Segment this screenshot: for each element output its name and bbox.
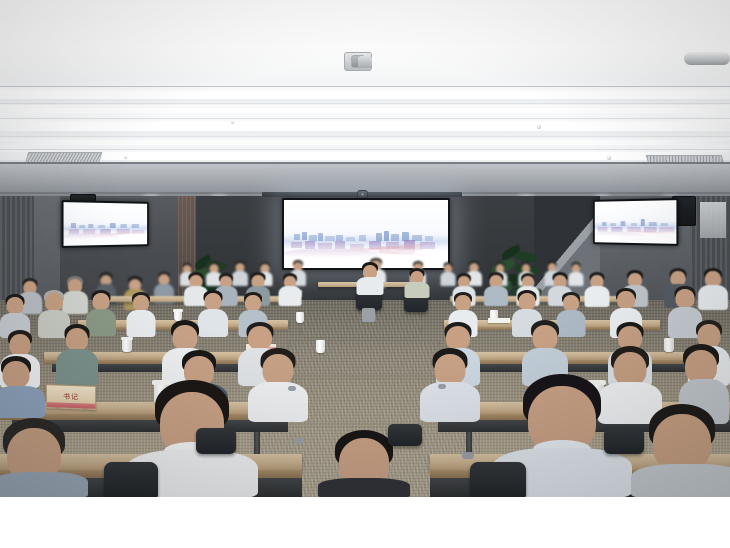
ceiling-seam (0, 118, 730, 119)
render-building (641, 219, 645, 226)
chair-frame (362, 308, 375, 322)
paper-cup (296, 312, 304, 323)
name-placard-left-text: 书记 (63, 393, 79, 401)
carpet-tile (288, 340, 440, 376)
ceiling-seam (0, 86, 730, 87)
right-led-screen-face (595, 200, 677, 244)
conference-chair[interactable] (604, 428, 644, 454)
paper-cup (122, 338, 132, 352)
chair-caster (294, 438, 304, 444)
right-led-screen[interactable] (593, 198, 679, 246)
chair-caster (462, 452, 474, 459)
render-building (294, 234, 301, 240)
ceiling-sprinkler (231, 121, 234, 124)
cityscape-render-left (64, 202, 148, 246)
wall-panel-light-right (700, 202, 726, 238)
name-placard-left: 书记 (46, 384, 96, 410)
render-foreground-fade (64, 228, 148, 246)
ceiling-light-strip (0, 122, 730, 131)
attendee (584, 272, 609, 307)
ceiling-sprinkler (537, 125, 541, 129)
render-building (602, 222, 607, 226)
render-building (71, 223, 76, 228)
attendee (0, 356, 52, 418)
conference-chair[interactable] (196, 428, 236, 454)
attendee-foreground (636, 404, 730, 497)
ceiling-shadow-band (0, 99, 730, 105)
render-building (302, 232, 307, 240)
conference-chair[interactable] (470, 462, 526, 497)
attendee-presenter-row (404, 268, 429, 298)
chair-caster (438, 384, 446, 389)
attendee-foreground (0, 418, 86, 497)
render-foreground-fade (595, 226, 677, 244)
conference-chair[interactable] (388, 424, 422, 446)
conference-chair[interactable] (104, 462, 158, 497)
paper-cup (316, 340, 325, 353)
ceiling-sprinkler (124, 156, 127, 159)
carpet-tile (300, 310, 422, 338)
handout-paper (488, 318, 510, 323)
render-building (376, 233, 383, 241)
render-building (318, 233, 323, 240)
conference-room-photo: 书记 张进华 (0, 0, 730, 497)
paper-cup (664, 338, 674, 352)
placard-stripe (47, 402, 95, 409)
render-building (384, 231, 389, 241)
screenshot-root: 书记 张进华 (0, 0, 730, 548)
paper-cup-lid (173, 309, 183, 312)
paper-cup-lid (121, 337, 133, 340)
attendee (698, 268, 728, 310)
ceiling (0, 0, 730, 182)
render-building (391, 234, 399, 241)
left-led-screen[interactable] (61, 200, 148, 248)
ceiling-sprinkler (607, 156, 611, 160)
ceiling-light-strip (0, 92, 730, 99)
ceiling-cylinder-light (358, 56, 372, 68)
attendee (484, 272, 508, 306)
ceiling-light-strip (0, 108, 730, 113)
ceiling-cylinder-light (684, 52, 730, 65)
left-led-screen-face (64, 202, 148, 246)
attendee (56, 324, 98, 386)
letterbox-band-bottom (0, 497, 730, 548)
attendee (420, 348, 480, 422)
attendee-presenter-row (356, 262, 383, 294)
attendee (278, 273, 301, 306)
ceiling-shadow-band (0, 131, 730, 138)
soffit-edge (0, 162, 730, 164)
chair-caster (288, 386, 296, 391)
ceiling-seam (0, 149, 730, 150)
ceiling-light-strip (0, 140, 730, 145)
cityscape-render-right (595, 200, 677, 244)
attendee (126, 292, 155, 337)
